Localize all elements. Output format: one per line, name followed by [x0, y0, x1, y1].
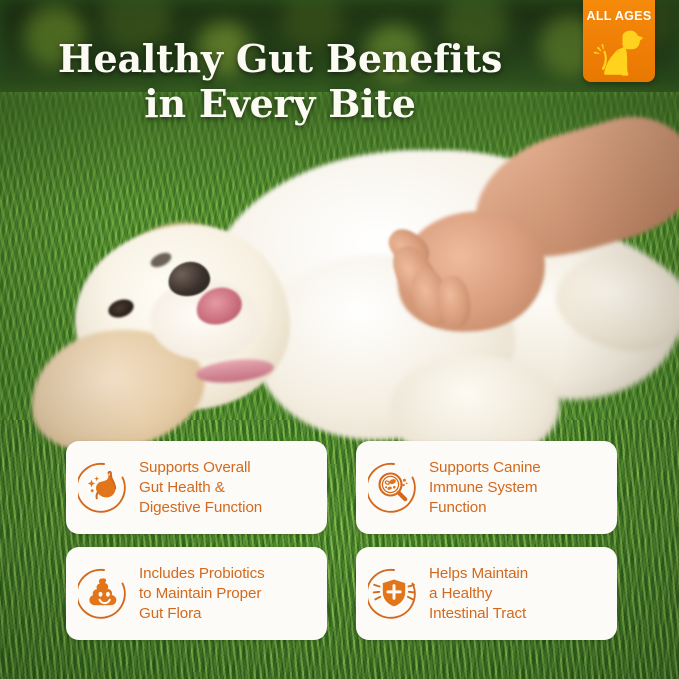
- benefit-card-label: Includes Probiotics to Maintain Proper G…: [139, 564, 265, 624]
- shield-plus-icon: [368, 568, 420, 620]
- benefit-card-label: Supports Canine Immune System Function: [429, 458, 541, 518]
- benefit-card-immune-system: Supports Canine Immune System Function: [356, 441, 617, 534]
- benefit-card-label: Supports Overall Gut Health & Digestive …: [139, 458, 262, 518]
- benefit-card-gut-health: Supports Overall Gut Health & Digestive …: [66, 441, 327, 534]
- product-benefits-poster: Healthy Gut Benefits in Every Bite ALL A…: [0, 0, 679, 679]
- sitting-dog-silhouette-icon: [593, 27, 645, 82]
- page-title: Healthy Gut Benefits in Every Bite: [0, 36, 560, 126]
- benefit-card-label: Helps Maintain a Healthy Intestinal Trac…: [429, 564, 528, 624]
- benefits-card-grid: Supports Overall Gut Health & Digestive …: [66, 441, 617, 640]
- smiling-poop-icon: [78, 568, 130, 620]
- benefit-card-probiotics: Includes Probiotics to Maintain Proper G…: [66, 547, 327, 640]
- magnifier-germ-icon: [368, 462, 420, 514]
- benefit-card-intestinal-tract: Helps Maintain a Healthy Intestinal Trac…: [356, 547, 617, 640]
- all-ages-badge: ALL AGES: [583, 0, 655, 82]
- all-ages-badge-label: ALL AGES: [583, 9, 655, 23]
- stomach-icon: [78, 462, 130, 514]
